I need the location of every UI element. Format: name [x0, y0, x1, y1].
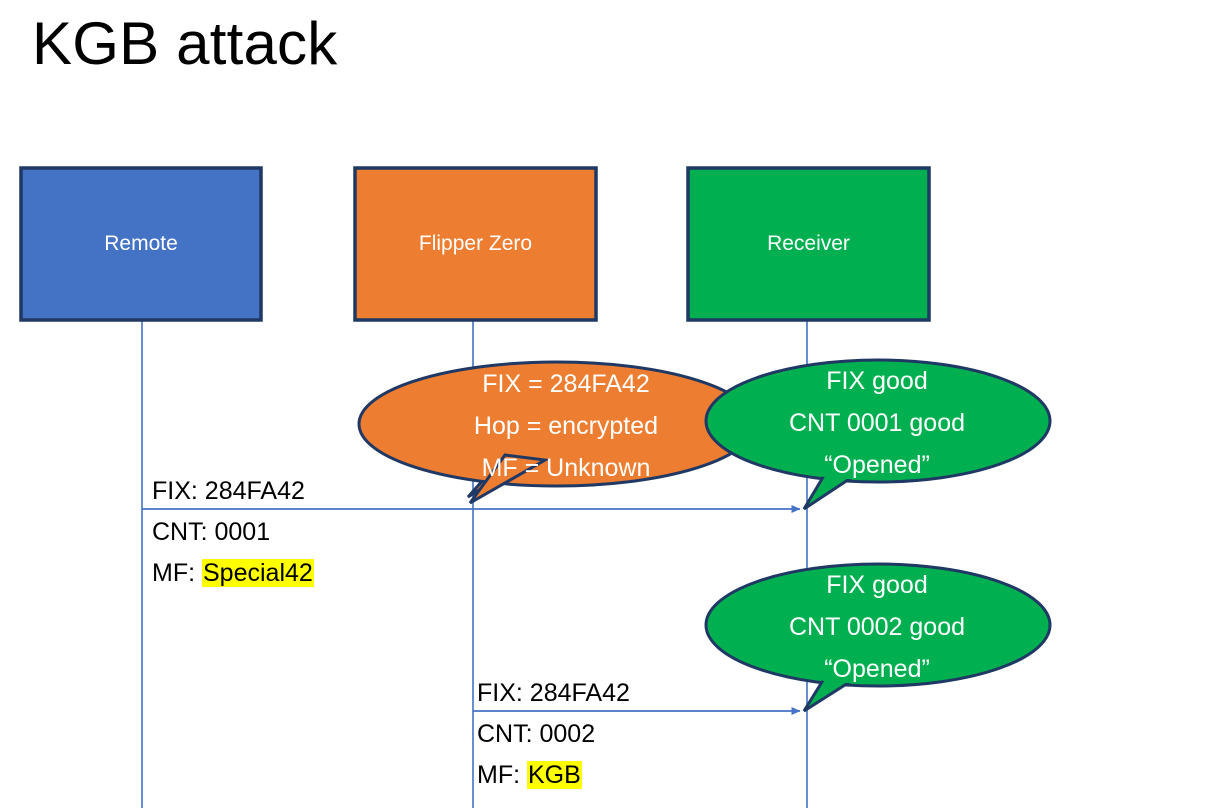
slide-canvas: KGB attack — [0, 0, 1218, 808]
message-line-value: 284FA42 — [530, 679, 630, 707]
callout-line: MF = Unknown — [380, 447, 752, 489]
callout-line: “Opened” — [712, 648, 1042, 690]
callout-line: CNT 0002 good — [712, 606, 1042, 648]
message-line: MF: KGB — [477, 755, 630, 796]
callout-line: CNT 0001 good — [712, 402, 1042, 444]
callout-text-receiver-first: FIX good CNT 0001 good “Opened” — [712, 360, 1042, 486]
callout-line: FIX good — [712, 564, 1042, 606]
message-line-prefix: MF: — [152, 559, 202, 587]
message-line-prefix: CNT: — [477, 720, 540, 748]
callout-text-flipper-capture: FIX = 284FA42 Hop = encrypted MF = Unkno… — [380, 363, 752, 489]
message-line-prefix: MF: — [477, 761, 527, 789]
actor-label-remote: Remote — [21, 231, 261, 257]
message-line-value: 284FA42 — [205, 477, 305, 505]
callout-text-receiver-second: FIX good CNT 0002 good “Opened” — [712, 564, 1042, 690]
message-line: CNT: 0001 — [152, 512, 314, 553]
actor-label-flipper: Flipper Zero — [355, 231, 596, 257]
callout-line: “Opened” — [712, 444, 1042, 486]
message-line: CNT: 0002 — [477, 714, 630, 755]
callout-line: Hop = encrypted — [380, 405, 752, 447]
message-line-prefix: CNT: — [152, 518, 215, 546]
message-line-value: 0001 — [215, 518, 271, 546]
message-line: MF: Special42 — [152, 553, 314, 594]
message-line-value-highlighted: KGB — [527, 761, 582, 789]
callout-line: FIX = 284FA42 — [380, 363, 752, 405]
message-line-prefix: FIX: — [152, 477, 205, 505]
message-line-value-highlighted: Special42 — [202, 559, 314, 587]
message-label-2: FIX: 284FA42 CNT: 0002 MF: KGB — [477, 673, 630, 796]
message-line: FIX: 284FA42 — [477, 673, 630, 714]
message-label-1: FIX: 284FA42 CNT: 0001 MF: Special42 — [152, 471, 314, 594]
message-line-value: 0002 — [540, 720, 596, 748]
callout-line: FIX good — [712, 360, 1042, 402]
message-line: FIX: 284FA42 — [152, 471, 314, 512]
actor-label-receiver: Receiver — [688, 231, 929, 257]
message-line-prefix: FIX: — [477, 679, 530, 707]
